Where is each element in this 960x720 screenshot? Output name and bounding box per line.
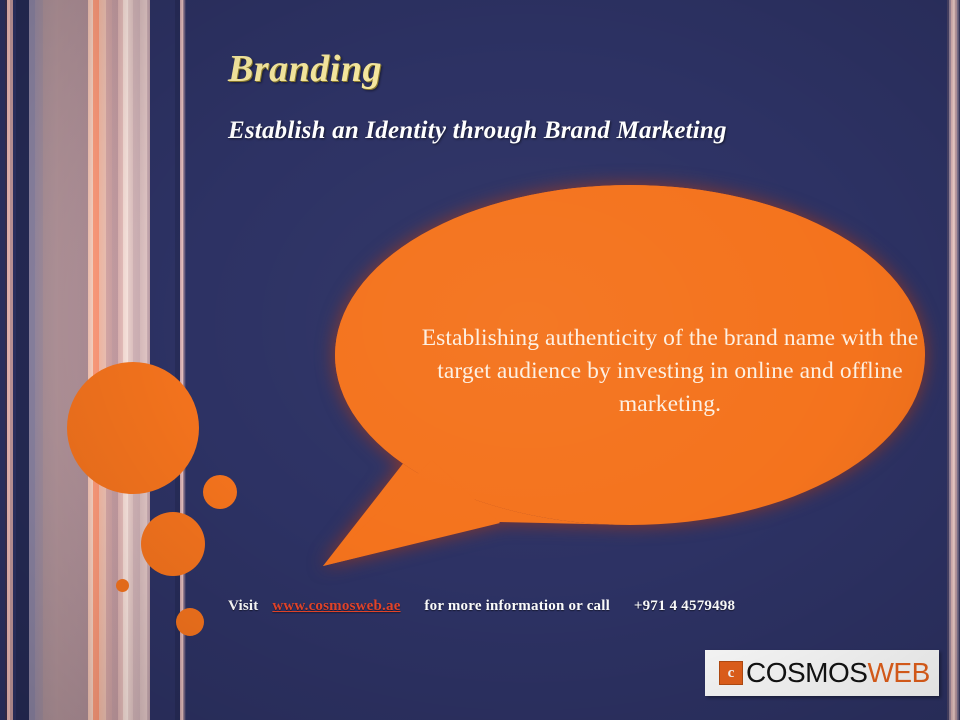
left-stripe-band: [0, 0, 200, 720]
logo-word-web: WEB: [867, 657, 929, 689]
slide-subtitle: Establish an Identity through Brand Mark…: [228, 117, 727, 145]
footer-contact-line: Visit www.cosmosweb.ae for more informat…: [228, 598, 735, 615]
decorative-circle-large: [67, 362, 199, 494]
decorative-circle-medium: [141, 512, 205, 576]
footer-phone: +971 4 4579498: [634, 598, 735, 614]
footer-middle: for more information or call: [424, 598, 610, 614]
logo-c-mark-icon: c: [719, 661, 743, 685]
decorative-circle-bottom: [176, 608, 204, 636]
decorative-circle-tiny: [116, 579, 129, 592]
slide-title: Branding: [228, 47, 382, 91]
logo-word-cosmos: COSMOS: [746, 657, 867, 689]
speech-bubble-text: Establishing authenticity of the brand n…: [410, 322, 930, 421]
website-link[interactable]: www.cosmosweb.ae: [272, 598, 400, 614]
footer-prefix: Visit: [228, 598, 258, 614]
decorative-circle-small: [203, 475, 237, 509]
cosmosweb-logo: c COSMOS WEB: [705, 650, 939, 696]
logo-mark-letter: c: [728, 666, 735, 681]
slide-canvas: Branding Establish an Identity through B…: [0, 0, 960, 720]
